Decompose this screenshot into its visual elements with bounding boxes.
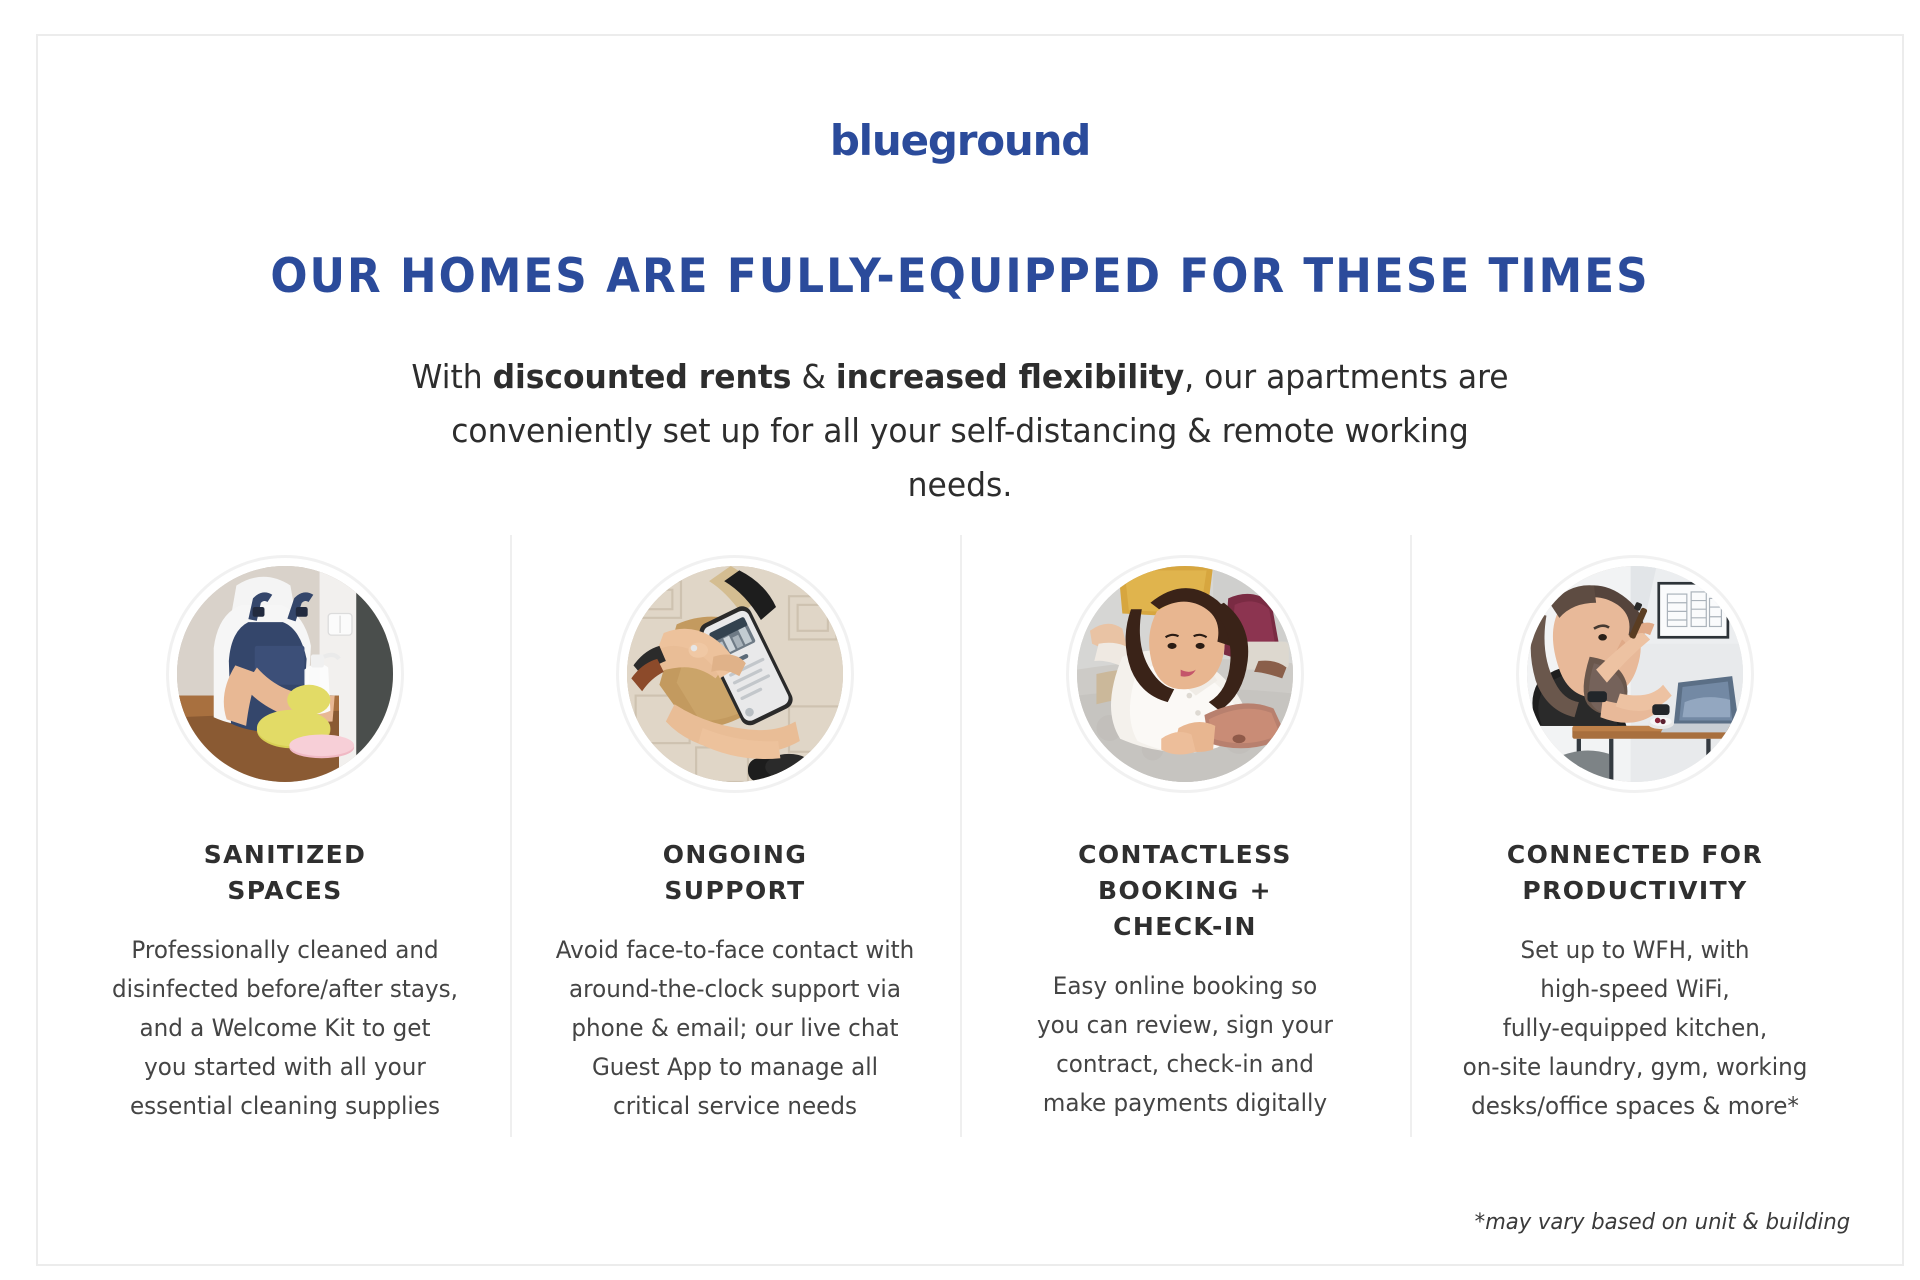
feature-columns: SANITIZED SPACES Professionally cleaned … bbox=[60, 535, 1860, 1126]
feature-title: CONTACTLESS BOOKING + CHECK-IN bbox=[994, 837, 1376, 945]
feature-title: ONGOING SUPPORT bbox=[544, 837, 926, 909]
feature-title: CONNECTED FOR PRODUCTIVITY bbox=[1444, 837, 1826, 909]
page-title: OUR HOMES ARE FULLY-EQUIPPED FOR THESE T… bbox=[67, 253, 1853, 300]
blueground-logo: blueground bbox=[830, 120, 1090, 162]
feature-image-ring-3 bbox=[1066, 555, 1304, 793]
feature-body: Professionally cleaned and disinfected b… bbox=[102, 931, 469, 1126]
feature-column-sanitized-spaces: SANITIZED SPACES Professionally cleaned … bbox=[60, 535, 510, 1126]
feature-image-ring-4 bbox=[1516, 555, 1754, 793]
subheadline: With discounted rents & increased flexib… bbox=[400, 350, 1521, 512]
subheadline-part-2: & bbox=[791, 357, 835, 396]
brand-logo-row: blueground bbox=[0, 120, 1920, 162]
poster-page: blueground OUR HOMES ARE FULLY-EQUIPPED … bbox=[0, 0, 1920, 1280]
feature-column-connected-productivity: CONNECTED FOR PRODUCTIVITY Set up to WFH… bbox=[1410, 535, 1860, 1126]
feature-image-ring-1 bbox=[166, 555, 404, 793]
photo-man-at-desk-with-laptop bbox=[1527, 566, 1743, 782]
photo-hands-using-smartphone bbox=[627, 566, 843, 782]
feature-column-contactless-booking: CONTACTLESS BOOKING + CHECK-IN Easy onli… bbox=[960, 535, 1410, 1123]
feature-body: Easy online booking so you can review, s… bbox=[1002, 967, 1369, 1123]
subheadline-part-1: With bbox=[411, 357, 492, 396]
photo-woman-on-bed-with-tablet bbox=[1077, 566, 1293, 782]
feature-body: Set up to WFH, with high-speed WiFi, ful… bbox=[1452, 931, 1819, 1126]
feature-column-ongoing-support: ONGOING SUPPORT Avoid face-to-face conta… bbox=[510, 535, 960, 1126]
subheadline-bold-discounted-rents: discounted rents bbox=[493, 357, 792, 396]
footnote-disclaimer: *may vary based on unit & building bbox=[1474, 1210, 1850, 1235]
feature-title: SANITIZED SPACES bbox=[94, 837, 476, 909]
photo-cleaning-person-wiping-counter bbox=[177, 566, 393, 782]
feature-body: Avoid face-to-face contact with around-t… bbox=[552, 931, 919, 1126]
feature-image-ring-2 bbox=[616, 555, 854, 793]
subheadline-bold-increased-flexibility: increased flexibility bbox=[836, 357, 1184, 396]
